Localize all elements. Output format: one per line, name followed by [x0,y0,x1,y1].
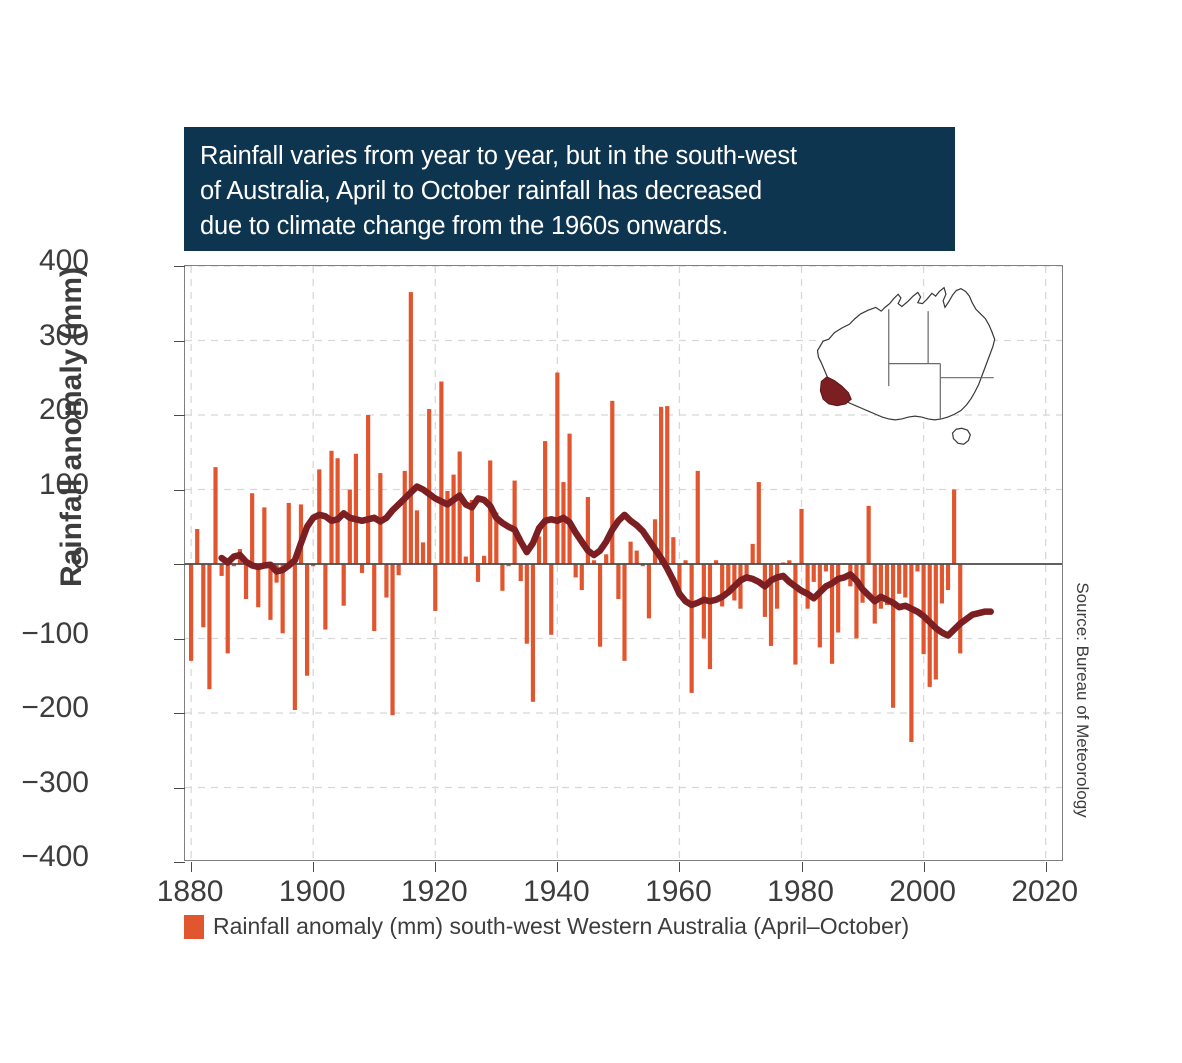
bar [598,564,602,647]
bar [891,564,895,708]
y-tick [174,564,185,565]
bar [305,564,309,676]
bar [421,542,425,564]
bar [409,292,413,564]
bar [744,564,748,575]
bar [513,481,517,564]
bar [384,564,388,598]
bar [635,551,639,564]
bar [812,564,816,582]
bar [799,509,803,564]
bar [201,564,205,627]
bar [390,564,394,715]
bar [464,557,468,564]
x-tick [313,862,314,872]
y-tick [174,266,185,267]
bar [366,415,370,564]
bar [934,564,938,679]
y-tick-label: −300 [0,766,89,800]
bar [543,441,547,564]
bar [867,506,871,564]
x-tick-label: 1940 [486,875,626,909]
bar [549,564,553,635]
x-tick-label: 1980 [731,875,871,909]
bar [567,434,571,564]
y-tick-label: −200 [0,691,89,725]
title-banner: Rainfall varies from year to year, but i… [184,127,955,251]
bar [757,482,761,564]
bar [909,564,913,742]
bar [574,564,578,577]
bar [775,564,779,609]
bar [348,490,352,565]
bar [879,564,883,609]
x-tick [1046,862,1047,872]
x-tick-label: 1900 [242,875,382,909]
x-tick [924,862,925,872]
y-tick-label: −100 [0,617,89,651]
x-tick-label: 1920 [364,875,504,909]
bar [580,564,584,590]
bar [806,564,810,609]
bar [836,564,840,633]
y-tick [174,341,185,342]
bar [415,510,419,564]
y-tick [174,862,185,863]
y-tick [174,713,185,714]
bar [500,564,504,591]
y-tick-label: −400 [0,840,89,874]
x-tick-label: 1960 [608,875,748,909]
bar [281,564,285,633]
x-tick-label: 1880 [120,875,260,909]
y-tick [174,639,185,640]
bar [293,564,297,710]
y-tick [174,490,185,491]
bar [616,564,620,599]
bar [696,471,700,564]
bar [354,454,358,564]
bar [433,564,437,611]
bar [897,564,901,594]
bar [690,564,694,693]
bar [329,451,333,564]
bar [525,564,529,644]
y-tick [174,415,185,416]
y-tick-label: 200 [0,393,89,427]
bar [671,537,675,564]
bar [244,564,248,599]
bar [195,529,199,564]
bar [342,564,346,606]
y-tick-label: 300 [0,319,89,353]
bar [561,482,565,564]
bar [256,564,260,607]
legend-label-rainfall: Rainfall anomaly (mm) south-west Western… [213,913,909,940]
bar [458,452,462,564]
bar [915,564,919,571]
bar [537,536,541,564]
bar [439,381,443,564]
bar [824,564,828,571]
bar [403,471,407,564]
bar [397,564,401,575]
bar [708,564,712,669]
tasmania [953,428,971,444]
y-tick-label: 0 [0,542,89,576]
bar [629,542,633,564]
bar [250,493,254,564]
bar [622,564,626,661]
bar [207,564,211,689]
bar [903,564,907,598]
bar [372,564,376,631]
bar [451,475,455,564]
bar [604,554,608,564]
legend-swatch-rainfall [184,915,204,939]
bar [220,564,224,576]
x-tick [802,862,803,872]
bar [427,409,431,564]
bar [940,564,944,603]
bar [659,407,663,564]
legend: Rainfall anomaly (mm) south-west Western… [184,913,1084,940]
x-tick-label: 2000 [853,875,993,909]
bar [818,564,822,647]
y-tick-label: 400 [0,244,89,278]
bar [287,503,291,564]
x-tick [557,862,558,872]
bar [946,564,950,590]
bar [323,564,327,630]
bar [360,564,364,573]
australia-map-inset [795,283,1020,463]
title-text: Rainfall varies from year to year, but i… [200,139,939,244]
bar [763,564,767,617]
y-tick-label: 100 [0,468,89,502]
bar [262,507,266,564]
chart-page: Rainfall varies from year to year, but i… [0,0,1182,1063]
bar [482,556,486,564]
bar [922,564,926,654]
bar [793,564,797,665]
bar [751,544,755,564]
bar [476,564,480,582]
source-note: Source: Bureau of Meteorology [1072,510,1092,890]
x-tick-label: 2020 [975,875,1115,909]
bar [336,458,340,564]
x-tick [679,862,680,872]
x-tick [191,862,192,872]
bar [213,467,217,564]
x-tick [435,862,436,872]
bar [268,564,272,620]
bar [952,490,956,565]
bar [873,564,877,624]
bar [665,406,669,564]
bar [226,564,230,653]
bar [531,564,535,702]
bar [555,373,559,564]
bar [647,564,651,618]
bar [189,564,193,661]
bar [519,564,523,581]
bar [958,564,962,653]
y-tick [174,788,185,789]
